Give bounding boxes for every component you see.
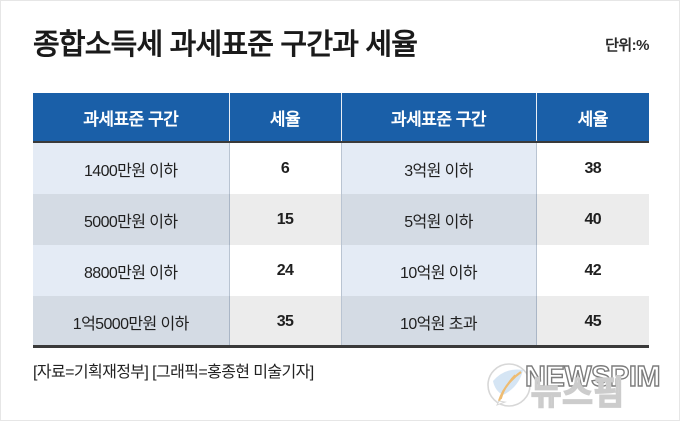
column-header-rate-right: 세율 [536, 93, 649, 142]
column-header-rate-left: 세율 [229, 93, 341, 142]
cell-rate-right: 42 [536, 245, 649, 296]
newspim-hangul-text: 뉴스핌 [531, 375, 625, 411]
cell-rate-left: 24 [229, 245, 341, 296]
table-header: 과세표준 구간 세율 과세표준 구간 세율 [33, 93, 649, 142]
source-credit-note: [자료=기획재정부] [그래픽=홍종현 미술기자] [33, 362, 314, 384]
cell-rate-left: 6 [229, 142, 341, 194]
cell-band-left: 8800만원 이하 [33, 245, 229, 296]
table-bottom-rule [33, 345, 649, 348]
cell-band-right: 10억원 이하 [341, 245, 536, 296]
unit-label: 단위:% [605, 36, 649, 56]
column-header-band-left: 과세표준 구간 [33, 93, 229, 142]
table-row: 5000만원 이하 15 5억원 이하 40 [33, 194, 649, 245]
cell-rate-right: 40 [536, 194, 649, 245]
table-header-row: 과세표준 구간 세율 과세표준 구간 세율 [33, 93, 649, 142]
cell-rate-right: 45 [536, 296, 649, 347]
cell-band-right: 10억원 초과 [341, 296, 536, 347]
tax-rate-table: 과세표준 구간 세율 과세표준 구간 세율 1400만원 이하 6 3억원 이하… [33, 93, 649, 347]
cell-rate-left: 15 [229, 194, 341, 245]
cell-band-left: 1억5000만원 이하 [33, 296, 229, 347]
table-row: 8800만원 이하 24 10억원 이하 42 [33, 245, 649, 296]
newspim-watermark: NEWSPIM 뉴스핌 [485, 357, 671, 415]
tax-rate-table-wrapper: 과세표준 구간 세율 과세표준 구간 세율 1400만원 이하 6 3억원 이하… [33, 93, 649, 347]
infographic-page: 종합소득세 과세표준 구간과 세율 단위:% 과세표준 구간 세율 과세표준 구… [0, 0, 680, 421]
cell-band-right: 3억원 이하 [341, 142, 536, 194]
table-body: 1400만원 이하 6 3억원 이하 38 5000만원 이하 15 5억원 이… [33, 142, 649, 347]
newspim-wordmark: NEWSPIM 뉴스핌 [525, 359, 671, 411]
cell-rate-left: 35 [229, 296, 341, 347]
cell-band-right: 5억원 이하 [341, 194, 536, 245]
table-row: 1400만원 이하 6 3억원 이하 38 [33, 142, 649, 194]
cell-band-left: 5000만원 이하 [33, 194, 229, 245]
table-row: 1억5000만원 이하 35 10억원 초과 45 [33, 296, 649, 347]
page-title: 종합소득세 과세표준 구간과 세율 [33, 25, 417, 65]
cell-band-left: 1400만원 이하 [33, 142, 229, 194]
column-header-band-right: 과세표준 구간 [341, 93, 536, 142]
title-row: 종합소득세 과세표준 구간과 세율 단위:% [33, 25, 649, 67]
cell-rate-right: 38 [536, 142, 649, 194]
